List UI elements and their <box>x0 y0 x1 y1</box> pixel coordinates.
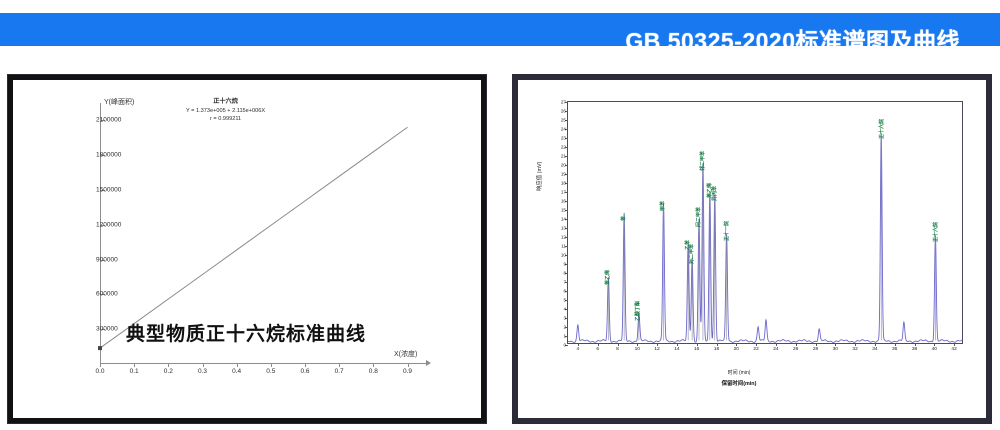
chromatogram-y-tick-label: 3 <box>563 316 566 321</box>
chromatogram-x-tick-label: 26 <box>793 347 798 352</box>
chromatogram-x-tick-label: 4 <box>577 347 580 352</box>
chromatogram-y-tick-label: 26 <box>561 109 566 114</box>
chromatogram-y-tick-label: 0 <box>563 343 566 348</box>
chromatogram-x-tick-mark <box>697 343 698 346</box>
chromatogram-x-tick-mark <box>578 343 579 346</box>
chromatogram-x-tick-label: 12 <box>654 347 659 352</box>
calibration-x-tick-label: 0.2 <box>164 368 173 375</box>
chromatogram-y-tick-label: 2 <box>563 325 566 330</box>
chromatogram-x-tick-mark <box>796 343 797 346</box>
chromatogram-x-tick-label: 10 <box>635 347 640 352</box>
chromatogram-y-tick-label: 21 <box>561 154 566 159</box>
calibration-x-tick-label: 0.8 <box>369 368 378 375</box>
chromatogram-y-tick-label: 24 <box>561 127 566 132</box>
header-banner: GB 50325-2020标准谱图及曲线 <box>0 13 1000 46</box>
chromatogram-x-tick-mark <box>736 343 737 346</box>
chromatogram-x-axis-label: 时间 (min) <box>728 369 751 376</box>
calibration-chart: Y(峰面积) X(浓度) 210000018000001500000120000… <box>16 83 478 415</box>
chromatogram-y-tick-label: 13 <box>561 226 566 231</box>
peak-label: 甲苯 <box>659 201 666 211</box>
peak-label: 间二甲苯 <box>695 207 702 227</box>
annotation-compound: 正十六烷 <box>186 97 265 107</box>
calibration-annotation: 正十六烷 Y = 1.373e+005 + 2.115e+006X r = 0.… <box>186 97 265 124</box>
chromatogram-x-tick-mark <box>677 343 678 346</box>
chromatogram-x-tick-label: 22 <box>753 347 758 352</box>
chromatogram-y-tick-label: 1 <box>563 334 566 339</box>
peak-label: 正十六烷 <box>932 222 939 242</box>
chromatogram-x-tick-label: 14 <box>674 347 679 352</box>
chromatogram-y-tick-label: 11 <box>561 244 566 249</box>
annotation-correlation: r = 0.999211 <box>186 115 265 124</box>
chromatogram-x-tick-label: 32 <box>852 347 857 352</box>
chromatogram-x-tick-label: 34 <box>872 347 877 352</box>
calibration-x-tick-label: 0.5 <box>266 368 275 375</box>
annotation-equation: Y = 1.373e+005 + 2.115e+006X <box>186 107 265 116</box>
chromatogram-x-tick-label: 30 <box>833 347 838 352</box>
chromatogram-x-tick-label: 16 <box>694 347 699 352</box>
chromatogram-y-tick-label: 7 <box>563 280 566 285</box>
calibration-curve-inner: Y(峰面积) X(浓度) 210000018000001500000120000… <box>16 83 478 415</box>
chromatogram-x-tick-label: 42 <box>951 347 956 352</box>
chromatogram-x-tick-mark <box>855 343 856 346</box>
chromatogram-x-tick-label: 38 <box>912 347 917 352</box>
chromatogram-x-tick-label: 6 <box>596 347 599 352</box>
peak-label: 正十六烷 <box>878 119 885 139</box>
chromatogram-x-tick-mark <box>934 343 935 346</box>
chromatogram-y-tick-label: 15 <box>561 208 566 213</box>
chromatogram-y-tick-label: 27 <box>561 100 566 105</box>
chromatogram-y-tick-label: 23 <box>561 136 566 141</box>
chromatogram-x-tick-label: 36 <box>892 347 897 352</box>
chromatogram-y-tick-label: 18 <box>561 181 566 186</box>
calibration-x-tick-label: 0.3 <box>198 368 207 375</box>
chromatogram-y-tick-label: 6 <box>563 289 566 294</box>
chromatogram-x-tick-mark <box>954 343 955 346</box>
chromatogram-x-tick-mark <box>618 343 619 346</box>
calibration-x-tick-label: 0.6 <box>300 368 309 375</box>
chromatogram-x-tick-mark <box>756 343 757 346</box>
calibration-x-tick-label: 0.9 <box>403 368 412 375</box>
chromatogram-x-tick-mark <box>835 343 836 346</box>
calibration-curve-panel: Y(峰面积) X(浓度) 210000018000001500000120000… <box>8 75 486 423</box>
chromatogram-y-tick-label: 8 <box>563 271 566 276</box>
chromatogram-y-tick-label: 10 <box>561 253 566 258</box>
chromatogram-x-tick-label: 18 <box>714 347 719 352</box>
chromatogram-y-tick-label: 25 <box>561 118 566 123</box>
chromatogram-y-axis-label: 响应值 (mV) <box>535 162 543 191</box>
chromatogram-y-tick-label: 17 <box>561 190 566 195</box>
chromatogram-panel: 响应值 (mV) 0123456789101112131415161718192… <box>513 75 991 423</box>
chromatogram-x-tick-mark <box>637 343 638 346</box>
chromatogram-y-tick-label: 19 <box>561 172 566 177</box>
calibration-x-tick-label: 0.1 <box>130 368 139 375</box>
peak-label: 对二甲苯 <box>688 244 695 264</box>
chromatogram-y-tick-label: 20 <box>561 163 566 168</box>
chromatogram-x-tick-label: 24 <box>773 347 778 352</box>
peak-label: 正十一烷 <box>723 221 730 241</box>
chromatogram-inner: 响应值 (mV) 0123456789101112131415161718192… <box>521 83 983 415</box>
chromatogram-y-tick-label: 12 <box>561 235 566 240</box>
chromatogram-x-tick-label: 20 <box>734 347 739 352</box>
chromatogram-plot-area: 0123456789101112131415161718192021222324… <box>567 101 963 344</box>
screenshot-root: GB 50325-2020标准谱图及曲线 Y(峰面积) X(浓度) 210000… <box>0 0 1000 430</box>
chromatogram-y-tick-label: 14 <box>561 217 566 222</box>
chromatogram-x-tick-label: 40 <box>932 347 937 352</box>
calibration-caption: 典型物质正十六烷标准曲线 <box>126 319 366 346</box>
peak-label: 邻二甲苯 <box>699 151 706 171</box>
chromatogram-y-tick-label: 9 <box>563 262 566 267</box>
chromatogram-x-tick-mark <box>895 343 896 346</box>
peak-label: 异丙苯 <box>711 186 718 201</box>
chromatogram-chart: 响应值 (mV) 0123456789101112131415161718192… <box>521 83 983 415</box>
peak-label: 乙酸丁酯 <box>634 301 641 321</box>
chromatogram-x-axis-sublabel: 保留时间(min) <box>722 379 757 387</box>
peak-label: 苯乙烯 <box>604 270 611 285</box>
chromatogram-x-tick-mark <box>875 343 876 346</box>
chromatogram-trace <box>568 102 962 343</box>
chromatogram-x-tick-mark <box>598 343 599 346</box>
chromatogram-x-tick-label: 8 <box>616 347 619 352</box>
chromatogram-y-tick-label: 5 <box>563 298 566 303</box>
calibration-x-tick-label: 0.4 <box>232 368 241 375</box>
chromatogram-x-tick-mark <box>816 343 817 346</box>
chromatogram-y-tick-label: 16 <box>561 199 566 204</box>
chromatogram-x-tick-label: 28 <box>813 347 818 352</box>
calibration-x-tick-label: 0.7 <box>335 368 344 375</box>
chromatogram-x-tick-mark <box>776 343 777 346</box>
calibration-x-tick-label: 0.0 <box>95 368 104 375</box>
chromatogram-x-tick-mark <box>717 343 718 346</box>
chromatogram-x-tick-mark <box>657 343 658 346</box>
chromatogram-y-tick-label: 4 <box>563 307 566 312</box>
page-title: GB 50325-2020标准谱图及曲线 <box>625 22 960 56</box>
chromatogram-x-tick-mark <box>915 343 916 346</box>
chromatogram-y-tick-label: 22 <box>561 145 566 150</box>
peak-label: 苯 <box>620 216 627 221</box>
